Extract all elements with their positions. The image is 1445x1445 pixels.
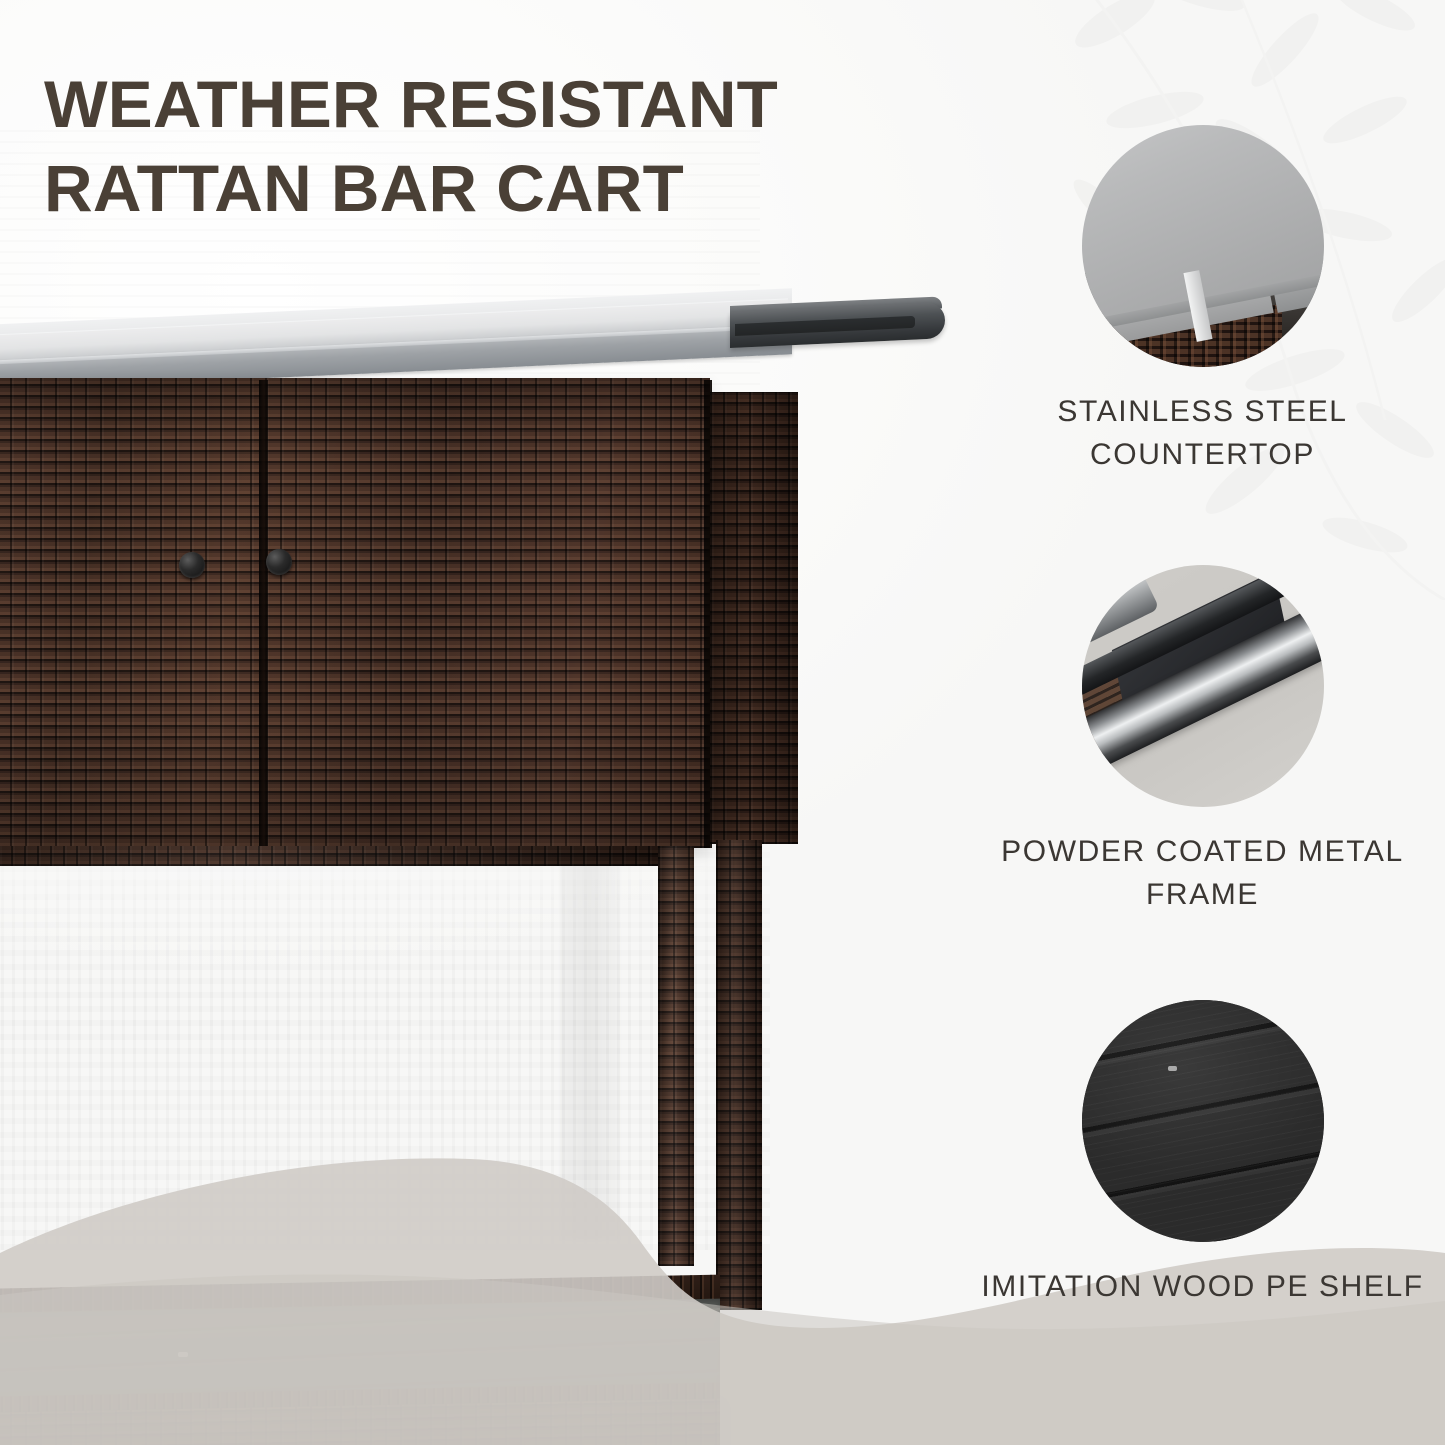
feature-powder-coated-metal-frame: POWDER COATED METAL FRAME — [960, 565, 1445, 916]
c3-fastener — [1168, 1066, 1177, 1071]
cabinet-door-seam-center — [259, 380, 268, 848]
feature-label-pe-shelf: IMITATION WOOD PE SHELF — [960, 1266, 1445, 1309]
stainless-steel-countertop-icon — [1082, 125, 1324, 367]
cabinet-bottom-rail — [0, 846, 660, 866]
feature-label-metal-frame: POWDER COATED METAL FRAME — [960, 831, 1445, 916]
feature-callouts: STAINLESS STEEL COUNTERTOP POWDER COATED… — [960, 0, 1445, 1445]
feature-stainless-steel-countertop: STAINLESS STEEL COUNTERTOP — [960, 125, 1445, 476]
feature-label-countertop: STAINLESS STEEL COUNTERTOP — [960, 391, 1445, 476]
c3-sheen — [1082, 1000, 1324, 1242]
cabinet-knob-left[interactable] — [179, 552, 205, 578]
feature-imitation-wood-pe-shelf: IMITATION WOOD PE SHELF — [960, 1000, 1445, 1309]
cabinet-side-panel — [710, 392, 798, 844]
cabinet-doors-panel — [0, 378, 710, 848]
imitation-wood-pe-shelf-icon — [1082, 1000, 1324, 1242]
cabinet-knob-right[interactable] — [266, 549, 292, 575]
powder-coated-metal-frame-icon — [1082, 565, 1324, 807]
infographic-canvas: WEATHER RESISTANT RATTAN BAR CART — [0, 0, 1445, 1445]
headline-line-2: RATTAN BAR CART — [44, 146, 1003, 230]
headline-line-1: WEATHER RESISTANT — [44, 67, 778, 141]
page-title: WEATHER RESISTANT RATTAN BAR CART — [44, 62, 1003, 231]
